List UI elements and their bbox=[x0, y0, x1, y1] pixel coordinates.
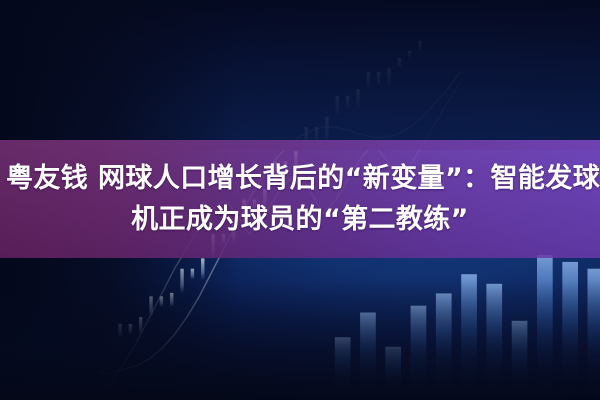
headline-line-2: 机正成为球员的“第二教练” bbox=[131, 199, 469, 240]
headline-line-1: 粤友钱 网球人口增长背后的“新变量”：智能发球 bbox=[6, 158, 594, 199]
headline: 粤友钱 网球人口增长背后的“新变量”：智能发球 机正成为球员的“第二教练” bbox=[0, 140, 600, 258]
promo-banner: 粤友钱 网球人口增长背后的“新变量”：智能发球 机正成为球员的“第二教练” bbox=[0, 0, 600, 400]
bottom-shade bbox=[0, 280, 600, 400]
